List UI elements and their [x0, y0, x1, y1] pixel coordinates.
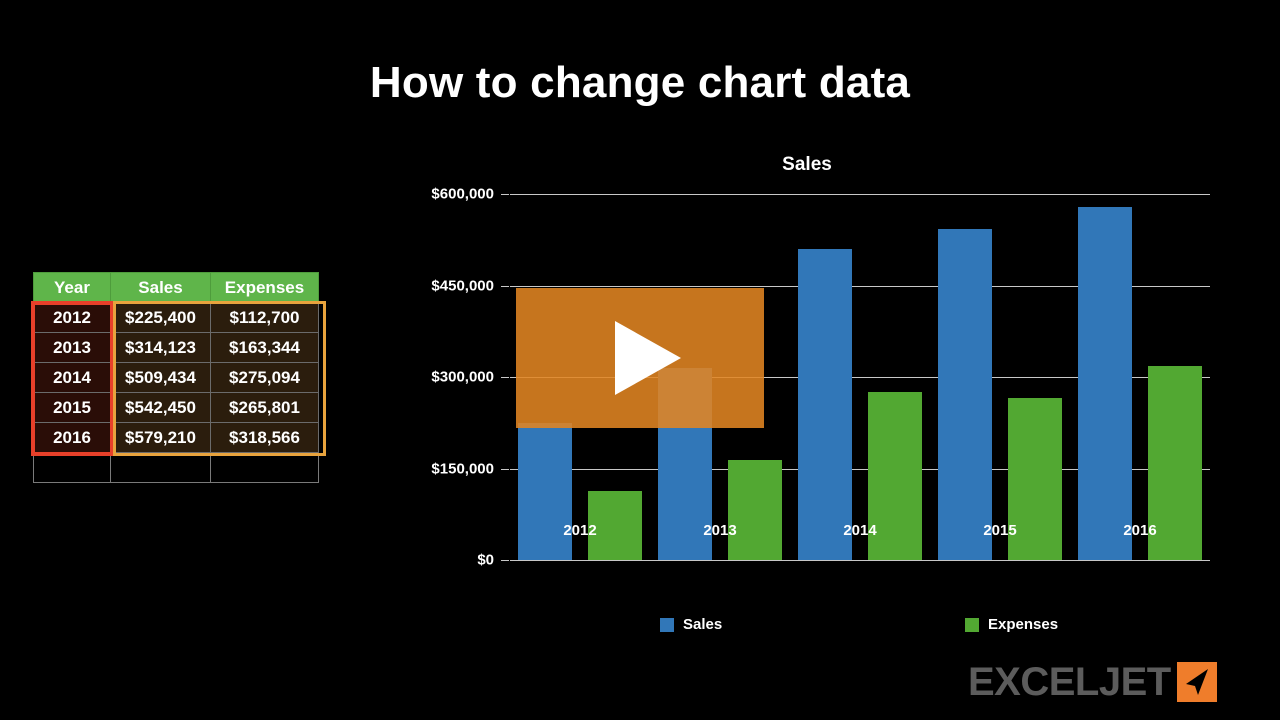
- page-title: How to change chart data: [0, 58, 1280, 108]
- y-gridline: [510, 194, 1210, 195]
- legend-entry-sales[interactable]: Sales: [660, 616, 722, 633]
- legend-swatch-expenses: [965, 618, 979, 632]
- table-row-empty[interactable]: [34, 453, 319, 483]
- y-axis-tick: [501, 377, 509, 378]
- legend-label: Sales: [683, 616, 722, 633]
- x-axis-tick-label: 2015: [983, 522, 1016, 539]
- legend-swatch-sales: [660, 618, 674, 632]
- cell-year[interactable]: 2016: [34, 423, 111, 453]
- x-axis-tick-label: 2014: [843, 522, 876, 539]
- legend-label: Expenses: [988, 616, 1058, 633]
- cell-expenses[interactable]: $275,094: [211, 363, 319, 393]
- table-header-row: Year Sales Expenses: [34, 273, 319, 303]
- table-row[interactable]: 2016 $579,210 $318,566: [34, 423, 319, 453]
- table-row[interactable]: 2014 $509,434 $275,094: [34, 363, 319, 393]
- y-gridline: [510, 560, 1210, 561]
- cell-empty[interactable]: [211, 453, 319, 483]
- legend-entry-expenses[interactable]: Expenses: [965, 616, 1058, 633]
- exceljet-arrow-icon: [1177, 662, 1217, 702]
- table-row[interactable]: 2013 $314,123 $163,344: [34, 333, 319, 363]
- cell-sales[interactable]: $509,434: [111, 363, 211, 393]
- cell-empty[interactable]: [111, 453, 211, 483]
- cell-sales[interactable]: $314,123: [111, 333, 211, 363]
- video-play-overlay[interactable]: [516, 288, 764, 428]
- y-axis-tick: [501, 469, 509, 470]
- cell-sales[interactable]: $225,400: [111, 303, 211, 333]
- cell-year[interactable]: 2014: [34, 363, 111, 393]
- x-axis-tick-label: 2013: [703, 522, 736, 539]
- bar-expenses-2013[interactable]: [728, 460, 782, 560]
- column-header-sales[interactable]: Sales: [111, 273, 211, 303]
- chart-title: Sales: [392, 154, 1222, 176]
- worksheet-table[interactable]: Year Sales Expenses 2012 $225,400 $112,7…: [33, 272, 319, 483]
- x-axis-tick-label: 2016: [1123, 522, 1156, 539]
- play-icon[interactable]: [615, 321, 681, 395]
- bar-sales-2016[interactable]: [1078, 207, 1132, 560]
- table-row[interactable]: 2015 $542,450 $265,801: [34, 393, 319, 423]
- cell-sales[interactable]: $579,210: [111, 423, 211, 453]
- chart-legend: SalesExpenses: [510, 616, 1210, 640]
- y-axis-tick: [501, 560, 509, 561]
- y-axis-tick-label: $600,000: [431, 186, 494, 203]
- y-axis-tick: [501, 286, 509, 287]
- bar-sales-2012[interactable]: [518, 423, 572, 560]
- cell-expenses[interactable]: $163,344: [211, 333, 319, 363]
- cell-expenses[interactable]: $318,566: [211, 423, 319, 453]
- cell-expenses[interactable]: $112,700: [211, 303, 319, 333]
- x-axis-tick-label: 2012: [563, 522, 596, 539]
- cell-year[interactable]: 2015: [34, 393, 111, 423]
- table-row[interactable]: 2012 $225,400 $112,700: [34, 303, 319, 333]
- y-axis-tick-label: $300,000: [431, 369, 494, 386]
- bar-sales-2015[interactable]: [938, 229, 992, 560]
- column-header-expenses[interactable]: Expenses: [211, 273, 319, 303]
- cell-year[interactable]: 2013: [34, 333, 111, 363]
- brand-wordmark: EXCELJET: [968, 662, 1171, 702]
- cell-expenses[interactable]: $265,801: [211, 393, 319, 423]
- y-axis-tick-label: $0: [477, 552, 494, 569]
- y-axis-tick: [501, 194, 509, 195]
- cell-year[interactable]: 2012: [34, 303, 111, 333]
- bar-sales-2014[interactable]: [798, 249, 852, 560]
- brand-logo: EXCELJET: [968, 662, 1217, 702]
- column-header-year[interactable]: Year: [34, 273, 111, 303]
- cell-sales[interactable]: $542,450: [111, 393, 211, 423]
- y-axis-tick-label: $450,000: [431, 277, 494, 294]
- cell-empty[interactable]: [34, 453, 111, 483]
- y-axis-tick-label: $150,000: [431, 460, 494, 477]
